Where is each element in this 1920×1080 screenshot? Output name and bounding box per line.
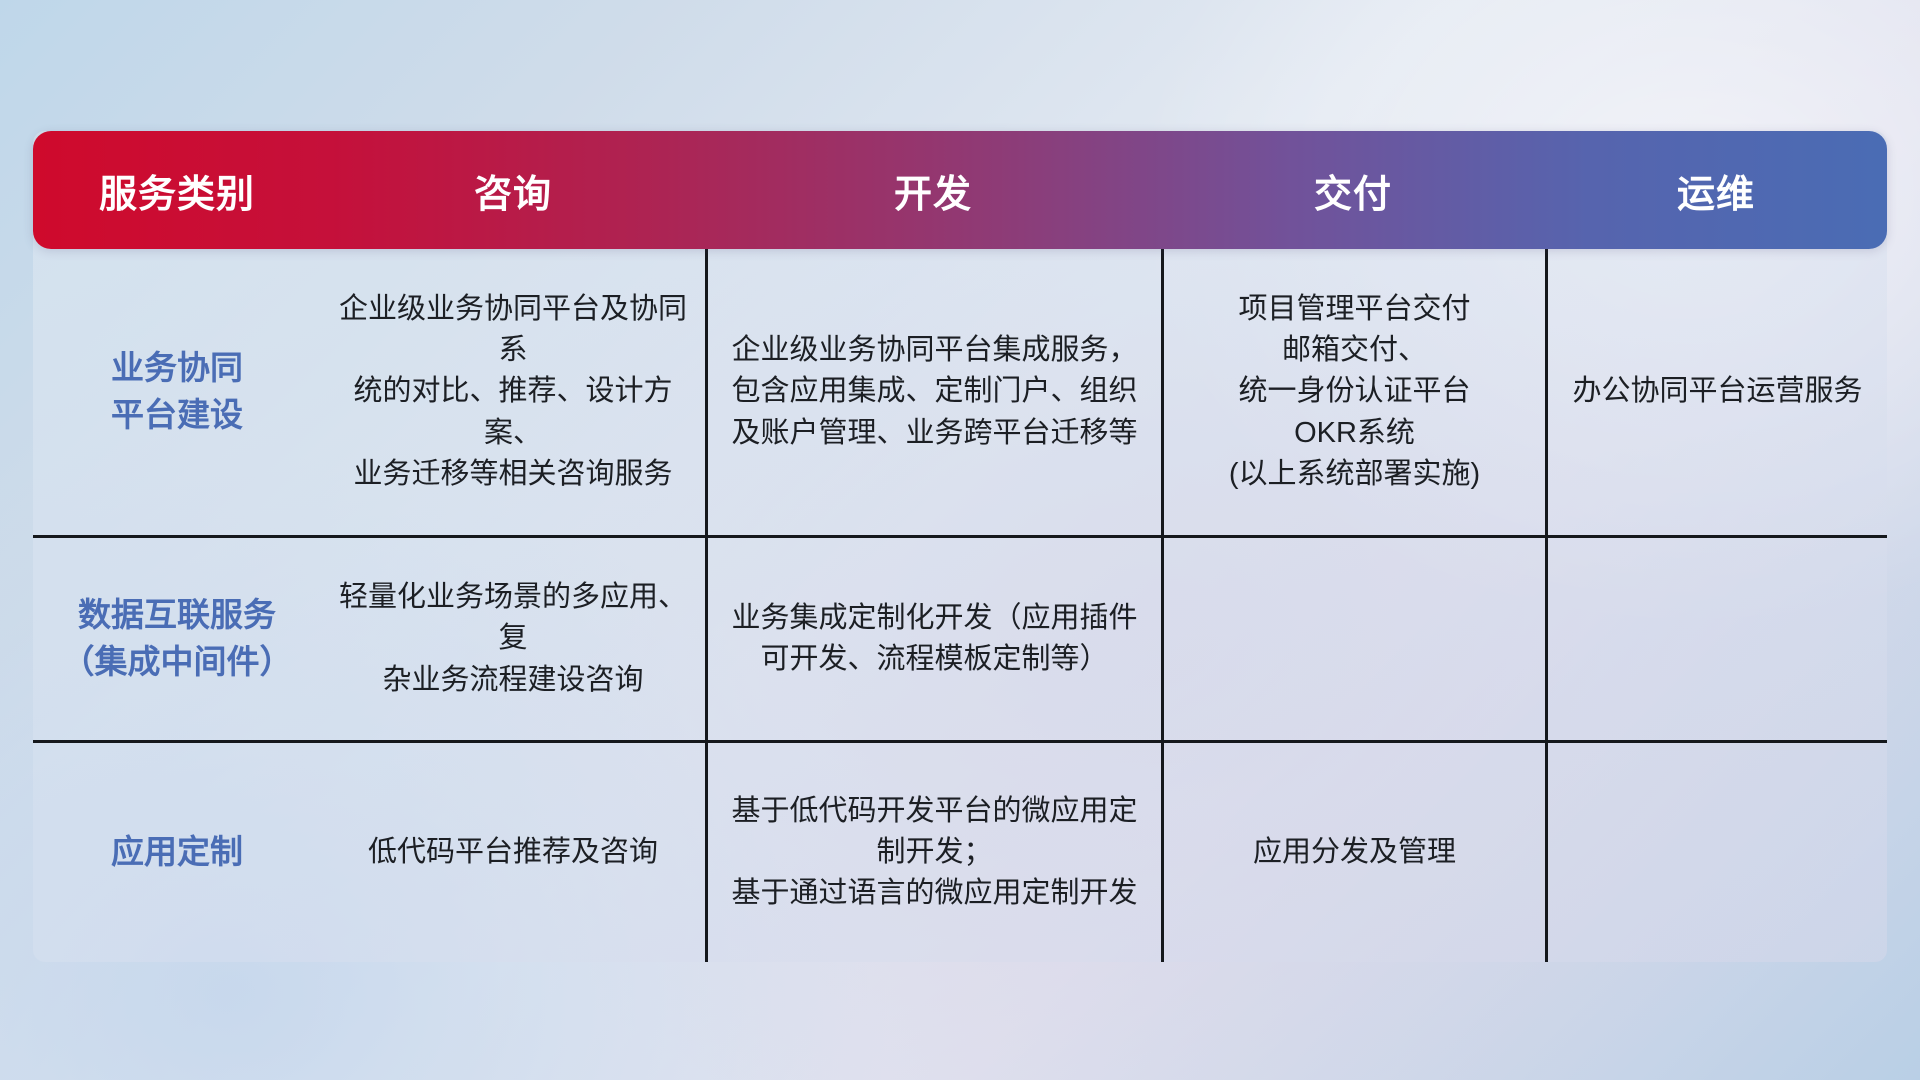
cell-development: 基于低代码开发平台的微应用定 制开发； 基于通过语言的微应用定制开发 — [705, 743, 1161, 962]
cell-delivery — [1161, 538, 1545, 740]
row-label-cell: 数据互联服务 （集成中间件） — [33, 538, 321, 740]
cell-development: 企业级业务协同平台集成服务， 包含应用集成、定制门户、组织 及账户管理、业务跨平… — [705, 249, 1161, 535]
cell-consulting: 轻量化业务场景的多应用、复 杂业务流程建设咨询 — [321, 538, 705, 740]
cell-text: 轻量化业务场景的多应用、复 杂业务流程建设咨询 — [337, 577, 689, 701]
cell-text: 应用分发及管理 — [1253, 832, 1456, 873]
cell-text: 办公协同平台运营服务 — [1572, 371, 1862, 412]
table-row: 应用定制 低代码平台推荐及咨询 基于低代码开发平台的微应用定 制开发； 基于通过… — [33, 743, 1887, 962]
row-label-text: 数据互联服务 （集成中间件） — [62, 592, 293, 686]
cell-text: 企业级业务协同平台及协同系 统的对比、推荐、设计方案、 业务迁移等相关咨询服务 — [337, 289, 689, 495]
column-header-consulting: 咨询 — [321, 163, 705, 218]
column-header-category: 服务类别 — [33, 163, 321, 218]
cell-text: 业务集成定制化开发（应用插件 可开发、流程模板定制等） — [731, 598, 1137, 680]
cell-development: 业务集成定制化开发（应用插件 可开发、流程模板定制等） — [705, 538, 1161, 740]
cell-consulting: 低代码平台推荐及咨询 — [321, 743, 705, 962]
cell-delivery: 应用分发及管理 — [1161, 743, 1545, 962]
column-header-operations: 运维 — [1545, 163, 1887, 218]
cell-delivery: 项目管理平台交付 邮箱交付、 统一身份认证平台 OKR系统 (以上系统部署实施) — [1161, 249, 1545, 535]
column-header-delivery: 交付 — [1161, 163, 1545, 218]
cell-operations: 办公协同平台运营服务 — [1545, 249, 1887, 535]
row-label-cell: 应用定制 — [33, 743, 321, 962]
cell-text: 基于低代码开发平台的微应用定 制开发； 基于通过语言的微应用定制开发 — [731, 791, 1137, 915]
table-row: 数据互联服务 （集成中间件） 轻量化业务场景的多应用、复 杂业务流程建设咨询 业… — [33, 538, 1887, 743]
table-header-row: 服务类别 咨询 开发 交付 运维 — [33, 131, 1887, 249]
cell-operations — [1545, 538, 1887, 740]
service-matrix-table: 服务类别 咨询 开发 交付 运维 业务协同 平台建设 企业级业务协同平台及协同系… — [33, 131, 1887, 962]
row-label-cell: 业务协同 平台建设 — [33, 249, 321, 535]
cell-text: 企业级业务协同平台集成服务， 包含应用集成、定制门户、组织 及账户管理、业务跨平… — [731, 330, 1137, 454]
cell-text: 项目管理平台交付 邮箱交付、 统一身份认证平台 OKR系统 (以上系统部署实施) — [1229, 289, 1480, 495]
cell-operations — [1545, 743, 1887, 962]
page-root: 服务类别 咨询 开发 交付 运维 业务协同 平台建设 企业级业务协同平台及协同系… — [0, 0, 1920, 1080]
column-header-development: 开发 — [705, 163, 1161, 218]
row-label-text: 业务协同 平台建设 — [111, 345, 243, 439]
table-row: 业务协同 平台建设 企业级业务协同平台及协同系 统的对比、推荐、设计方案、 业务… — [33, 249, 1887, 538]
table-body: 业务协同 平台建设 企业级业务协同平台及协同系 统的对比、推荐、设计方案、 业务… — [33, 249, 1887, 962]
row-label-text: 应用定制 — [111, 829, 243, 876]
cell-text: 低代码平台推荐及咨询 — [368, 832, 658, 873]
cell-consulting: 企业级业务协同平台及协同系 统的对比、推荐、设计方案、 业务迁移等相关咨询服务 — [321, 249, 705, 535]
